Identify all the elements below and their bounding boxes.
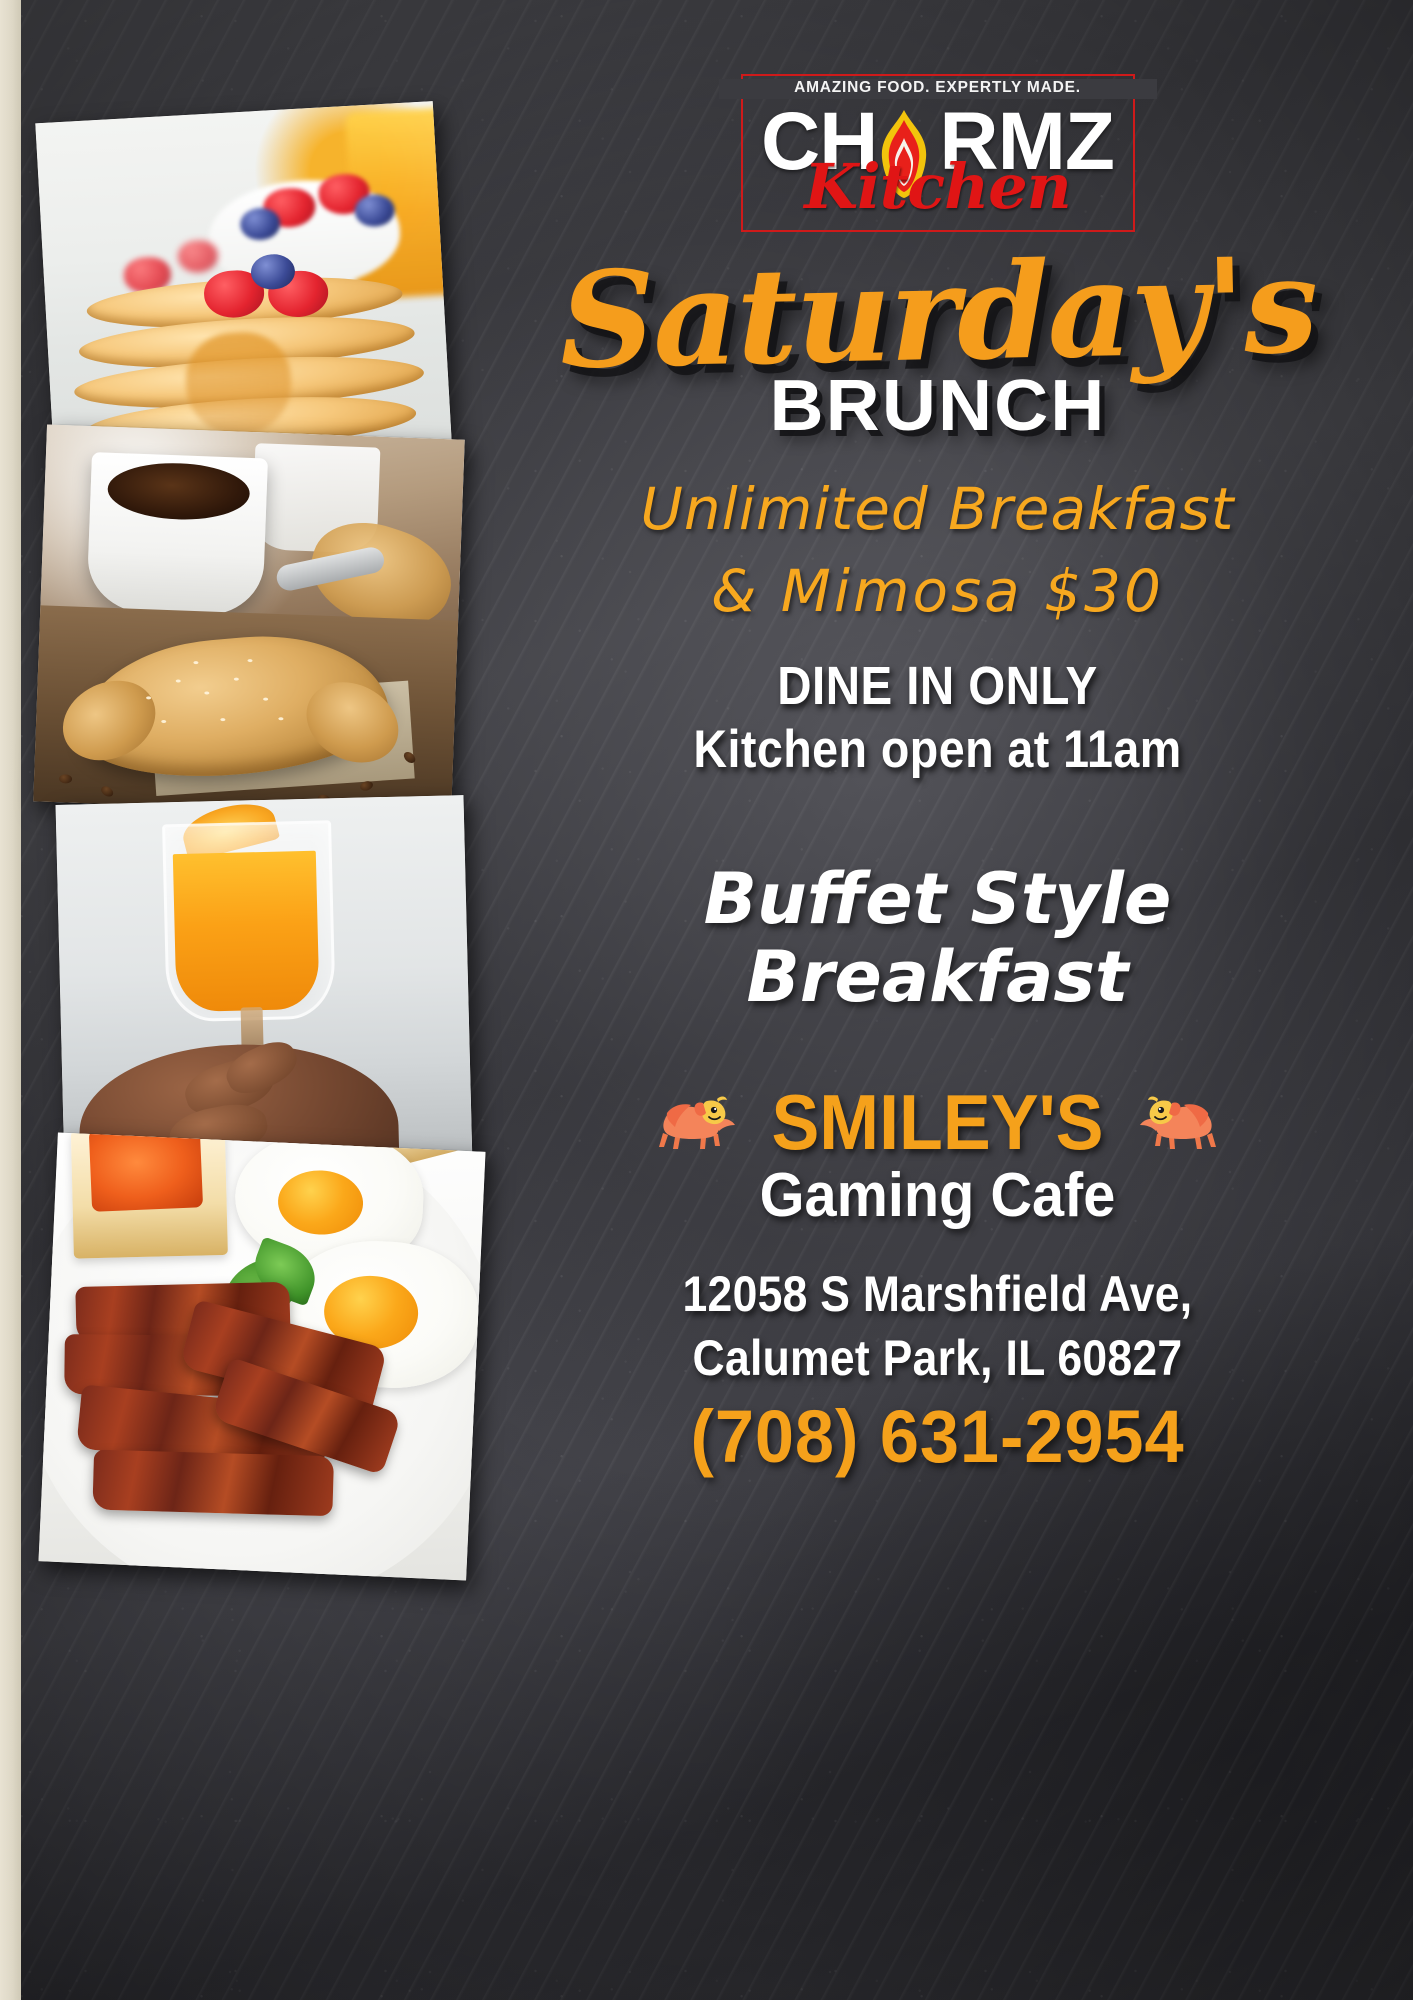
content-column: AMAZING FOOD. EXPERTLY MADE. CHRMZ Kitch… [462,0,1413,2000]
coffee-photo-image [33,424,465,816]
buffet-line-1: Buffet Style [462,860,1413,938]
offer-line-1: Unlimited Breakfast [462,468,1413,550]
venue-address: 12058 S Marshfield Ave, Calumet Park, IL… [462,1262,1413,1390]
photo-collage [0,0,470,2000]
pancakes-photo-image [35,101,452,482]
mimosa-photo-image [56,795,473,1174]
dine-in-line-1: DINE IN ONLY [519,655,1356,719]
venue-subtitle: Gaming Cafe [495,1165,1379,1227]
address-line-2: Calumet Park, IL 60827 [514,1326,1360,1390]
venue-phone[interactable]: (708) 631-2954 [486,1400,1389,1474]
buffet-heading: Buffet Style Breakfast [462,860,1413,1017]
brunch-flyer: AMAZING FOOD. EXPERTLY MADE. CHRMZ Kitch… [0,0,1413,2000]
address-line-1: 12058 S Marshfield Ave, [514,1262,1360,1326]
mimosa-photo [56,795,473,1174]
eggs-bacon-photo [38,1133,485,1581]
logo-tagline: AMAZING FOOD. EXPERTLY MADE. [785,80,1090,96]
pancakes-berries-photo [35,101,452,482]
eggs-photo-image [38,1133,485,1581]
headline-block: BRUNCH [443,370,1413,442]
dine-in-info: DINE IN ONLY Kitchen open at 11am [462,655,1413,781]
offer-text: Unlimited Breakfast & Mimosa $30 [462,468,1413,633]
venue-name-row: SMILEY'S [462,1083,1413,1161]
buffet-line-2: Breakfast [462,938,1413,1016]
logo-script-word: Kitchen [733,156,1143,218]
venue-name: SMILEY'S [771,1083,1103,1161]
horse-mascot-icon [653,1093,739,1151]
offer-line-2: & Mimosa $30 [462,550,1413,632]
horse-mascot-icon [1136,1093,1222,1151]
dine-in-line-2: Kitchen open at 11am [519,719,1356,782]
coffee-croissant-photo [33,424,465,816]
charmz-kitchen-logo: AMAZING FOOD. EXPERTLY MADE. CHRMZ Kitch… [733,78,1143,218]
